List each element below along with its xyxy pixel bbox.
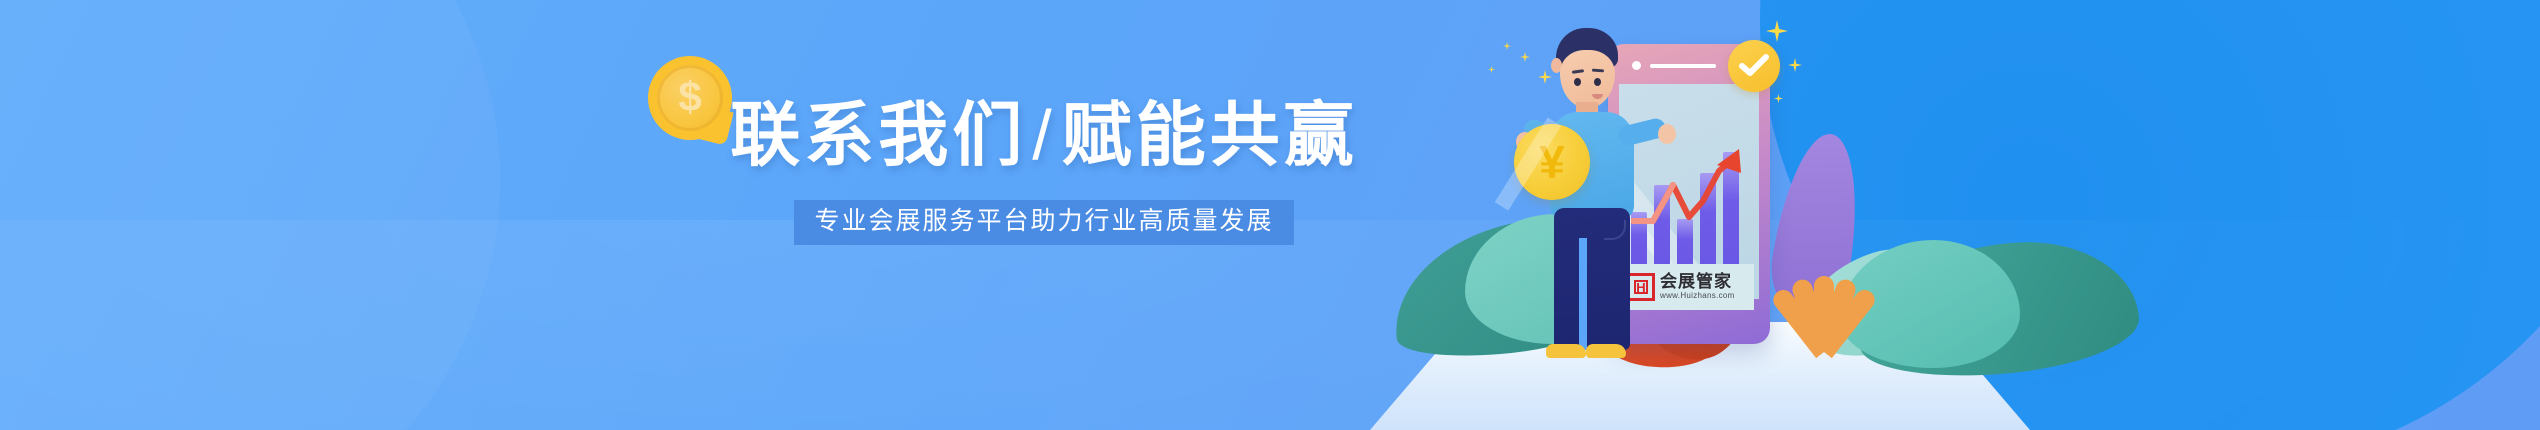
hero-subtitle: 专业会展服务平台助力行业高质量发展 (794, 200, 1293, 245)
person-leg-gap (1579, 238, 1587, 350)
headline-divider: / (1026, 96, 1061, 174)
dollar-symbol: $ (657, 65, 723, 131)
contact-us-hero-banner: $ 联系我们/赋能共赢 专业会展服务平台助力行业高质量发展 (0, 0, 2540, 430)
coin-face: $ (657, 65, 723, 131)
hero-illustration: H 会展管家 www.Huizhans.com (1370, 0, 2050, 430)
headline-secondary: 赋能共赢 (1062, 96, 1358, 174)
person-shoe-right (1586, 344, 1626, 358)
sparkle-icon (1766, 20, 1788, 42)
background-glow (0, 220, 2540, 430)
headline-main: 联系我们 (730, 96, 1026, 174)
person-shoe-left (1546, 344, 1586, 358)
person-eye-right (1594, 78, 1601, 86)
sparkle-icon (1788, 58, 1802, 72)
person-hand-right (1658, 124, 1676, 144)
person-face (1560, 50, 1615, 108)
person-illustration: ¥ (1488, 28, 1678, 358)
dollar-coin-bubble-icon: $ (648, 56, 732, 140)
plant-orange-fan (1768, 266, 1876, 352)
sparkle-icon (1774, 94, 1783, 103)
person-eye-left (1574, 78, 1581, 86)
hero-text-block: 联系我们/赋能共赢 专业会展服务平台助力行业高质量发展 (724, 96, 1364, 245)
check-circle-icon (1728, 40, 1780, 92)
yuan-coin-icon: ¥ (1514, 124, 1590, 200)
page-title: 联系我们/赋能共赢 (724, 96, 1364, 174)
